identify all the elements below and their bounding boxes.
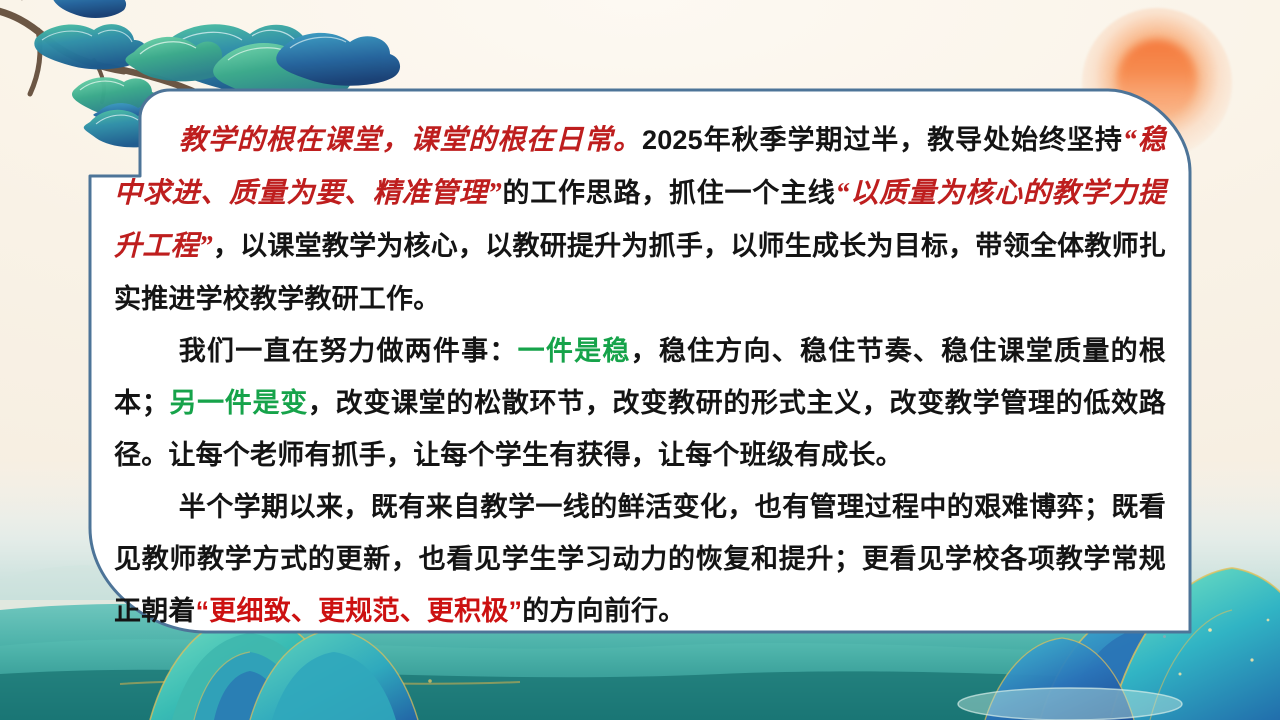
p2-emphasis-stability: 一件是稳 [518, 336, 631, 366]
p1-text-a: 2025年秋季学期过半，教导处始终坚持 [642, 125, 1123, 155]
p1-text-b: 的工作思路，抓住一个主线 [502, 178, 836, 208]
paragraph-2: 我们一直在努力做两件事：一件是稳，稳住方向、稳住节奏、稳住课堂质量的根本；另一件… [114, 325, 1166, 481]
paragraph-1: 教学的根在课堂，课堂的根在日常。2025年秋季学期过半，教导处始终坚持“稳中求进… [114, 114, 1166, 325]
p2-emphasis-change: 另一件是变 [169, 388, 308, 418]
paragraph-3: 半个学期以来，既有来自教学一线的鲜活变化，也有管理过程中的艰难博弈；既看见教师教… [114, 481, 1166, 637]
slide-body-text: 教学的根在课堂，课堂的根在日常。2025年秋季学期过半，教导处始终坚持“稳中求进… [114, 114, 1166, 614]
p3-quote-direction: “更细致、更规范、更积极” [196, 596, 523, 626]
p3-text-b: 的方向前行。 [522, 596, 685, 626]
p1-highlight-opening: 教学的根在课堂，课堂的根在日常。 [179, 125, 642, 156]
p1-text-c: ，以课堂教学为核心，以教研提升为抓手，以师生成长为目标，带领全体教师扎实推进学校… [114, 231, 1166, 314]
content-panel: 教学的根在课堂，课堂的根在日常。2025年秋季学期过半，教导处始终坚持“稳中求进… [88, 88, 1192, 634]
p2-text-a: 我们一直在努力做两件事： [179, 336, 518, 366]
